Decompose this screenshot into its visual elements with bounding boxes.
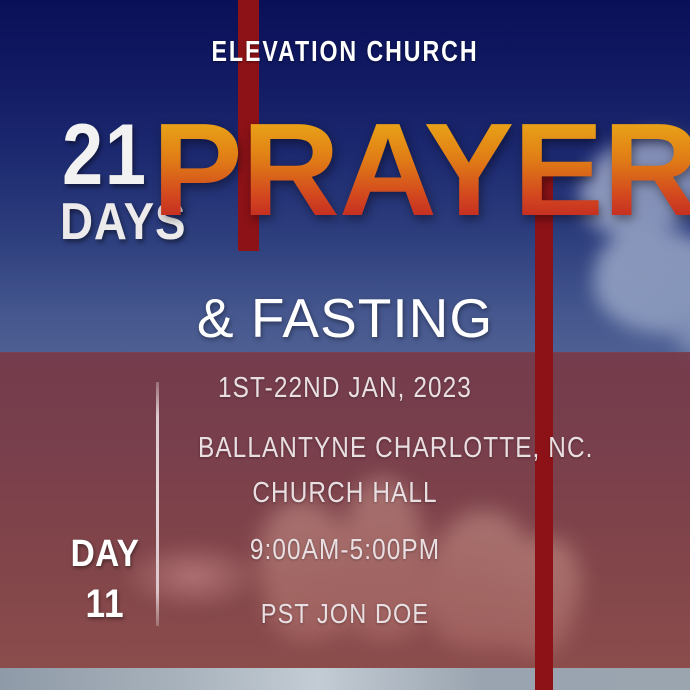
- bottom-edge-strip: [0, 668, 690, 690]
- day-marker-label: DAY: [65, 535, 144, 573]
- event-hall: CHURCH HALL: [198, 477, 492, 510]
- event-flyer: ELEVATION CHURCH 21 DAYS PRAYER & FASTIN…: [0, 0, 690, 690]
- event-speaker: PST JON DOE: [198, 598, 492, 630]
- headline-fasting: & FASTING: [0, 286, 690, 350]
- day-marker-number: 11: [65, 584, 144, 624]
- event-time: 9:00AM-5:00PM: [198, 534, 492, 567]
- event-venue: BALLANTYNE CHARLOTTE, NC.: [198, 432, 492, 465]
- church-name: ELEVATION CHURCH: [69, 36, 621, 69]
- duration-number: 21: [62, 112, 148, 198]
- vertical-divider: [156, 382, 159, 626]
- headline-prayer: PRAYER: [152, 104, 690, 236]
- event-date: 1ST-22ND JAN, 2023: [198, 372, 492, 405]
